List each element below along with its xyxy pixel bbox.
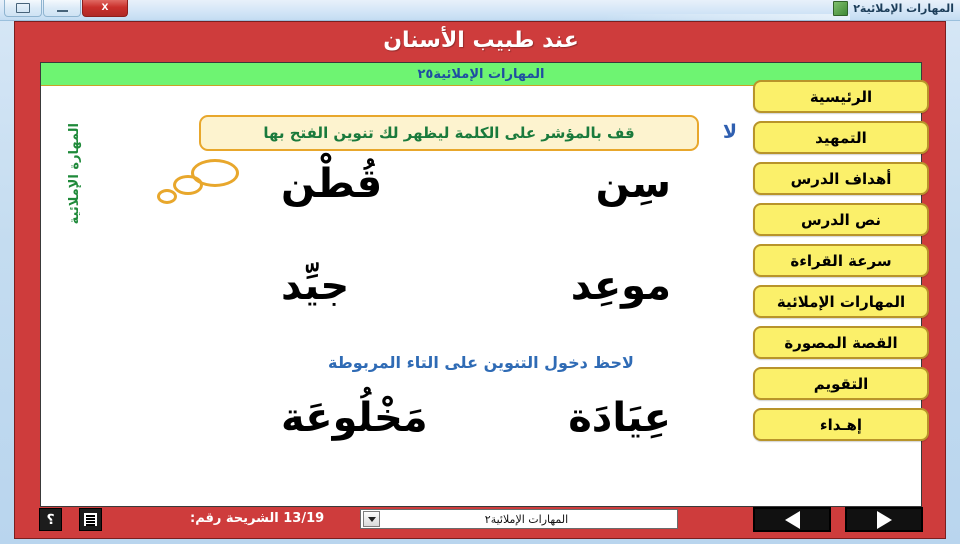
close-icon: X: [102, 3, 109, 13]
word-left[interactable]: جيِّد: [281, 261, 349, 311]
question-mark-icon: ؟: [46, 512, 54, 528]
maximize-icon: [16, 3, 30, 13]
slide-counter: 13/19 الشريحة رقم:: [190, 511, 324, 526]
titlebar-gloss: [600, 14, 850, 20]
presentation-frame: عند طبيب الأسنان المهارات الإملائية٢٥ ال…: [14, 21, 946, 539]
word-right[interactable]: عِيَادَة: [568, 393, 671, 443]
nav-button-label: المهارات الإملائية: [777, 293, 905, 311]
next-slide-button[interactable]: [845, 507, 923, 532]
nav-button-spelling-skills[interactable]: المهارات الإملائية: [753, 285, 929, 318]
slide-list-button[interactable]: [79, 508, 102, 531]
callout-behind-text: لا: [723, 121, 737, 143]
slide-counter-label: الشريحة رقم:: [190, 511, 279, 526]
nav-button-label: التقويم: [814, 375, 869, 393]
word-right[interactable]: موعِد: [571, 261, 671, 311]
nav-button-label: إهـداء: [820, 416, 862, 434]
nav-button-assessment[interactable]: التقويم: [753, 367, 929, 400]
word-row: عِيَادَة مَخْلُوعَة: [101, 393, 801, 443]
chevron-down-icon[interactable]: [363, 511, 380, 527]
minimize-icon: [57, 10, 68, 12]
application-window: X المهارات الإملائية٢ عند طبيب الأسنان ا…: [0, 0, 960, 544]
previous-slide-button[interactable]: [753, 507, 831, 532]
word-left[interactable]: قُطْن: [281, 159, 382, 209]
slide-counter-value: 13/19: [283, 511, 324, 526]
hint-callout-text: قف بالمؤشر على الكلمة ليظهر لك تنوين الف…: [263, 124, 634, 142]
nav-button-home[interactable]: الرئيسية: [753, 80, 929, 113]
nav-button-objectives[interactable]: أهداف الدرس: [753, 162, 929, 195]
nav-button-label: أهداف الدرس: [791, 170, 892, 188]
list-icon: [84, 513, 97, 526]
nav-button-lesson-text[interactable]: نص الدرس: [753, 203, 929, 236]
help-button[interactable]: ؟: [39, 508, 62, 531]
slide-header-text: المهارات الإملائية٢٥: [417, 67, 544, 82]
nav-button-label: التمهيد: [815, 129, 867, 147]
status-bar: ؟ 13/19 الشريحة رقم: المهارات الإملائية٢: [15, 504, 947, 534]
window-titlebar: X المهارات الإملائية٢: [0, 0, 960, 21]
nav-button-dedication[interactable]: إهـداء: [753, 408, 929, 441]
word-left[interactable]: مَخْلُوعَة: [281, 393, 428, 443]
window-controls: X: [4, 0, 128, 17]
maximize-button[interactable]: [4, 0, 42, 17]
minimize-button[interactable]: [43, 0, 81, 17]
nav-button-label: نص الدرس: [801, 211, 881, 229]
word-row: موعِد جيِّد: [101, 261, 801, 311]
slide-select-value: المهارات الإملائية٢: [380, 513, 677, 526]
hint-callout: قف بالمؤشر على الكلمة ليظهر لك تنوين الف…: [199, 115, 699, 151]
slide-select-dropdown[interactable]: المهارات الإملائية٢: [360, 509, 678, 529]
word-row: سِن قُطْن: [101, 159, 801, 209]
app-icon: [833, 1, 848, 16]
window-title: المهارات الإملائية٢: [853, 2, 954, 15]
section-nav-panel: الرئيسية التمهيد أهداف الدرس نص الدرس سر…: [753, 80, 929, 441]
triangle-left-icon: [785, 511, 800, 529]
word-right[interactable]: سِن: [596, 159, 671, 209]
nav-button-label: سرعة القراءة: [790, 252, 891, 270]
close-button[interactable]: X: [82, 0, 128, 17]
nav-button-picture-story[interactable]: القصة المصورة: [753, 326, 929, 359]
vertical-side-label: المهارة الإملائية: [67, 123, 89, 224]
nav-button-label: الرئيسية: [810, 88, 872, 106]
window-title-group: المهارات الإملائية٢: [833, 1, 954, 16]
triangle-right-icon: [877, 511, 892, 529]
nav-button-intro[interactable]: التمهيد: [753, 121, 929, 154]
nav-button-label: القصة المصورة: [784, 334, 897, 352]
page-title: عند طبيب الأسنان: [15, 28, 947, 53]
nav-button-reading-speed[interactable]: سرعة القراءة: [753, 244, 929, 277]
